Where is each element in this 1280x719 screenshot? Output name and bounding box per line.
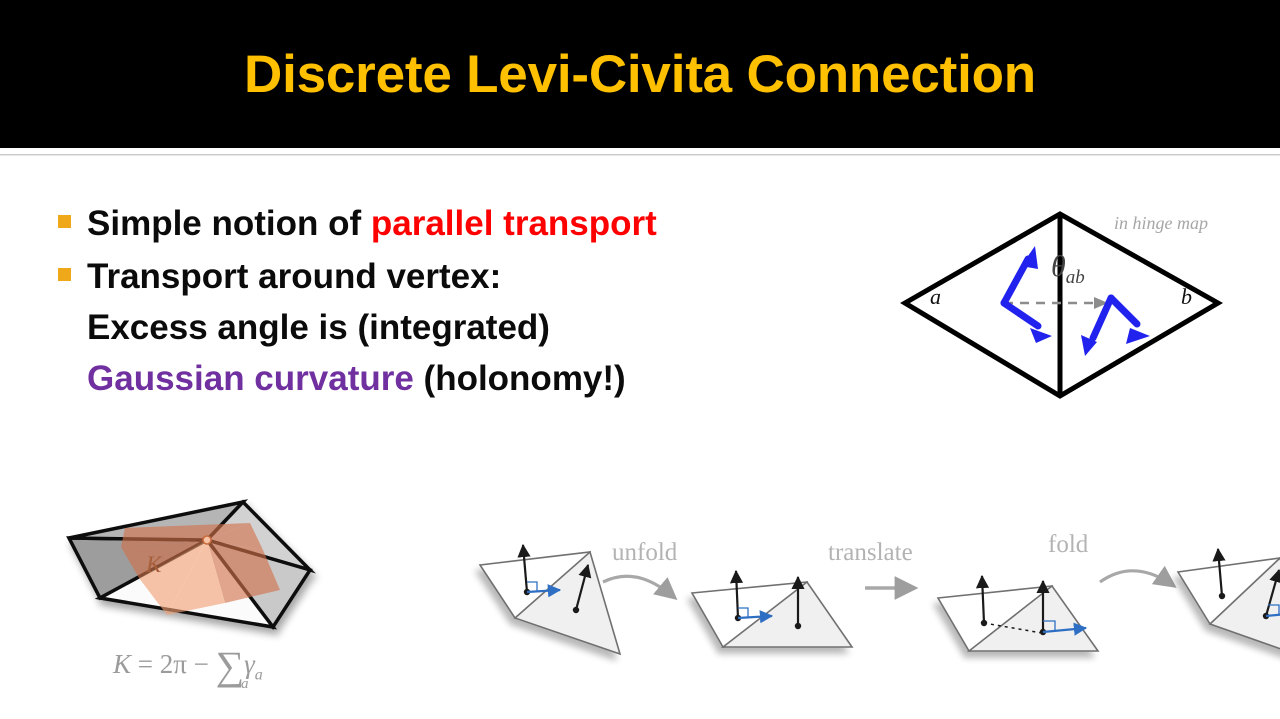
stage-folded-final bbox=[1178, 558, 1280, 660]
formula-summand-subscript: a bbox=[255, 666, 263, 683]
parallel-transport-sequence: unfold translate fold bbox=[460, 520, 1280, 695]
title-banner: Discrete Levi-Civita Connection bbox=[0, 0, 1280, 148]
stage1-basepoint-right bbox=[573, 607, 579, 613]
bullet-text: Transport around vertex: Excess angle is… bbox=[87, 251, 626, 404]
hinge-caption: in hinge map bbox=[1114, 213, 1208, 234]
formula-sum-index: a bbox=[241, 676, 249, 693]
hinge-theta-label: θab bbox=[1051, 250, 1085, 289]
bullet-sub-line: Excess angle is (integrated) bbox=[87, 308, 550, 347]
bullet-list: Simple notion of parallel transport Tran… bbox=[58, 198, 758, 406]
formula-lhs: K bbox=[113, 649, 131, 679]
cone-apex-point bbox=[203, 536, 211, 544]
bullet-accent-gaussian-curvature: Gaussian curvature bbox=[87, 359, 414, 398]
bullet-text: Simple notion of parallel transport bbox=[87, 198, 657, 249]
stage-unfolded bbox=[692, 582, 852, 647]
step-label-unfold: unfold bbox=[612, 539, 677, 567]
theta-symbol: θ bbox=[1051, 250, 1066, 283]
bullet-square-icon bbox=[58, 268, 71, 281]
formula-minus: − bbox=[194, 649, 209, 679]
curvature-formula: K = 2π − ∑aγa bbox=[113, 636, 343, 684]
bullet-accent-parallel-transport: parallel transport bbox=[371, 204, 657, 243]
formula-term: 2π bbox=[160, 649, 187, 679]
formula-equals: = bbox=[138, 649, 153, 679]
theta-subscript: ab bbox=[1066, 267, 1085, 288]
list-item: Simple notion of parallel transport bbox=[58, 198, 758, 249]
header-divider bbox=[0, 153, 1280, 156]
step-label-fold: fold bbox=[1048, 531, 1088, 559]
hinge-label-a: a bbox=[930, 284, 941, 310]
step-label-translate: translate bbox=[828, 539, 913, 567]
hinge-map-figure: a b in hinge map θab bbox=[880, 196, 1260, 412]
curvature-angle-label: K bbox=[146, 552, 161, 578]
unfold-arrow-icon bbox=[603, 576, 675, 598]
list-item: Transport around vertex: Excess angle is… bbox=[58, 251, 758, 404]
formula-summand: γ bbox=[244, 649, 255, 679]
formula-sum-symbol: ∑ bbox=[216, 642, 245, 689]
bullet-square-icon bbox=[58, 215, 71, 228]
fold-arrow-icon bbox=[1100, 571, 1174, 586]
stage-translated bbox=[938, 586, 1098, 651]
hinge-label-b: b bbox=[1181, 284, 1192, 310]
bullet-lead-text: Transport around vertex: bbox=[87, 257, 501, 296]
stage-folded-initial bbox=[480, 552, 620, 654]
curvature-cone-svg bbox=[55, 490, 385, 650]
stage2-basepoint-right bbox=[795, 623, 801, 629]
stage4-basepoint-left bbox=[1219, 593, 1225, 599]
bullet-lead-text: Simple notion of bbox=[87, 204, 371, 243]
bullet-tail-text: (holonomy!) bbox=[414, 359, 626, 398]
page-title: Discrete Levi-Civita Connection bbox=[244, 44, 1036, 105]
